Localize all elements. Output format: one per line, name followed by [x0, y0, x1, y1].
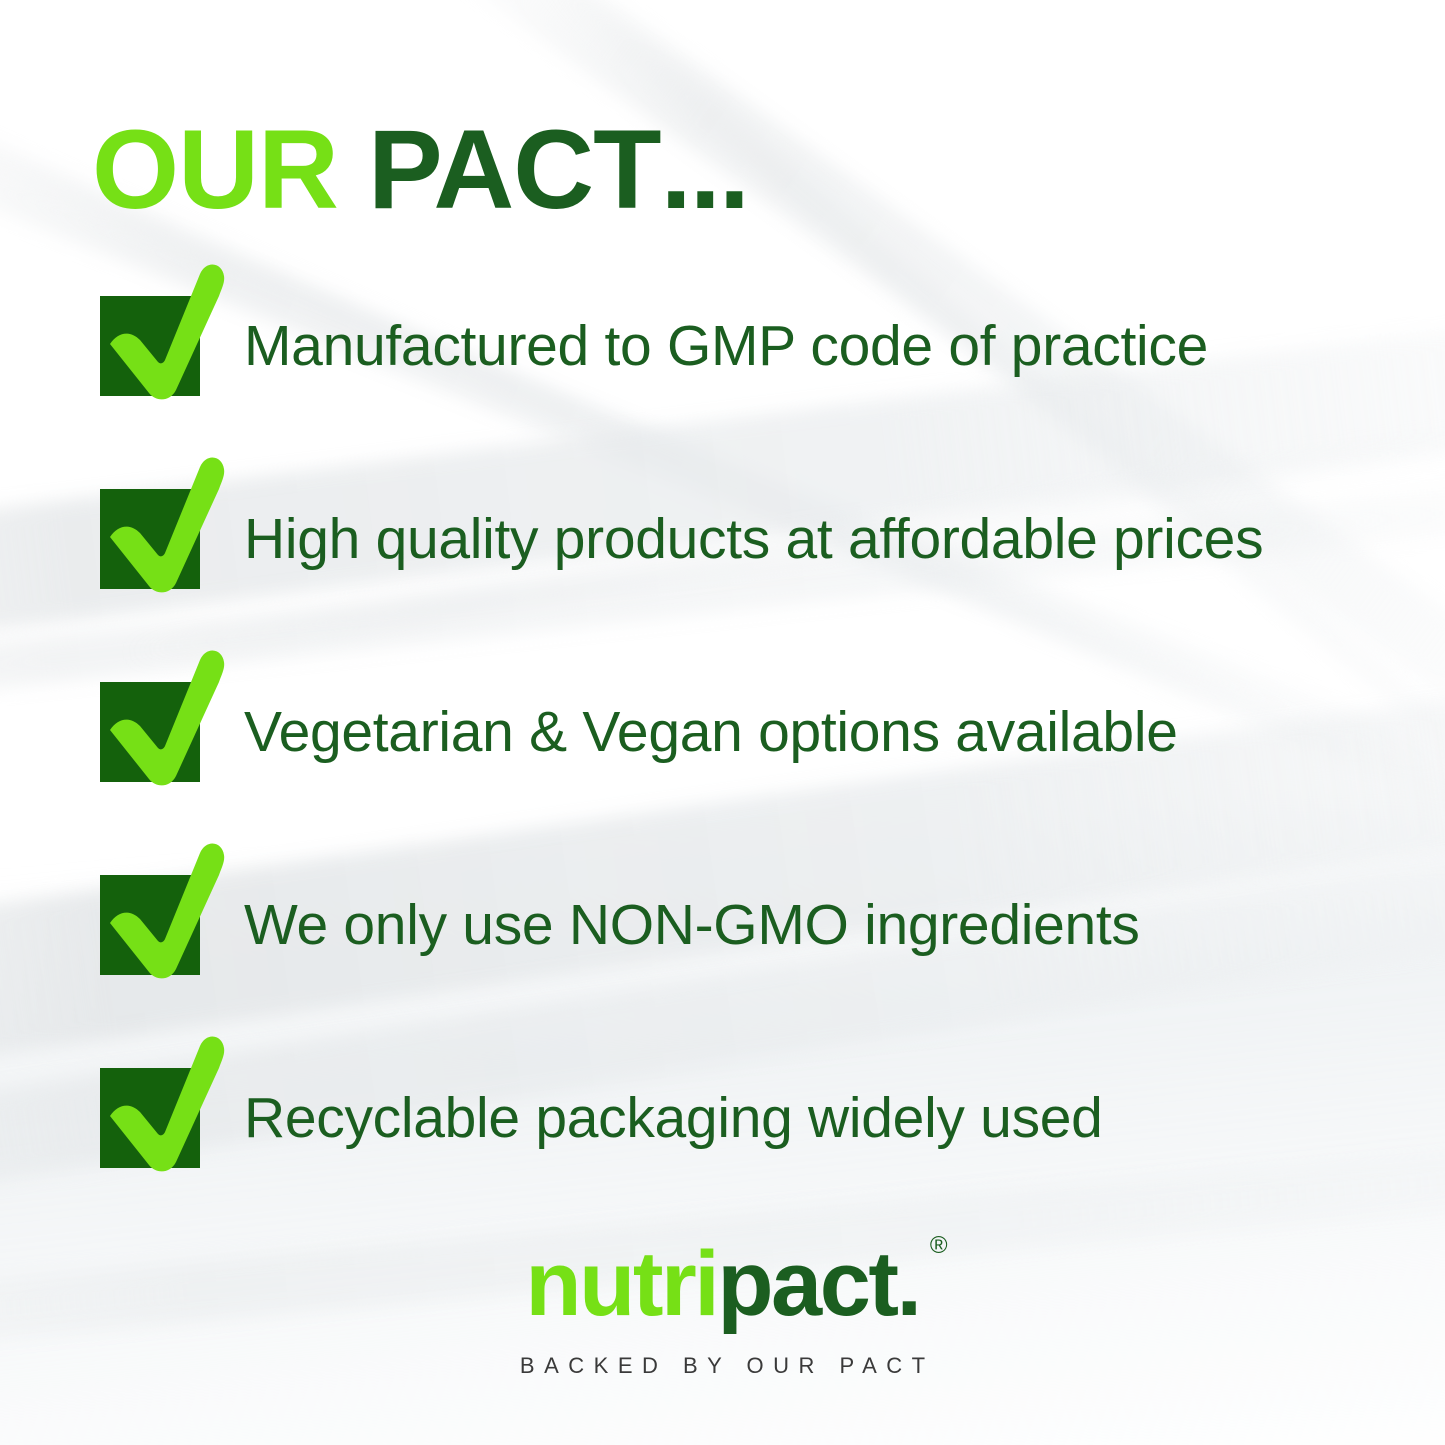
check-icon — [88, 831, 238, 981]
list-item: High quality products at affordable pric… — [100, 489, 1430, 589]
logo-nutri: nutri — [525, 1233, 717, 1335]
list-item-label: We only use NON-GMO ingredients — [244, 897, 1140, 954]
page-title: OUR PACT... — [92, 114, 748, 226]
list-item-label: Manufactured to GMP code of practice — [244, 318, 1208, 375]
checkbox[interactable] — [100, 489, 200, 589]
list-item-label: High quality products at affordable pric… — [244, 511, 1263, 568]
page-title-ellipsis: ... — [661, 107, 748, 232]
logo-wordmark: nutripact.® — [525, 1238, 919, 1330]
checkbox[interactable] — [100, 682, 200, 782]
brand-logo: nutripact.® BACKED BY OUR PACT — [0, 1238, 1445, 1379]
check-icon — [88, 1024, 238, 1174]
logo-tagline: BACKED BY OUR PACT — [0, 1353, 1445, 1379]
logo-pact: pact. — [717, 1233, 919, 1335]
list-item-label: Vegetarian & Vegan options available — [244, 704, 1178, 761]
list-item-label: Recyclable packaging widely used — [244, 1090, 1103, 1147]
registered-trademark-icon: ® — [930, 1234, 948, 1258]
checkbox[interactable] — [100, 875, 200, 975]
list-item: Vegetarian & Vegan options available — [100, 682, 1430, 782]
list-item: Recyclable packaging widely used — [100, 1068, 1430, 1168]
check-icon — [88, 638, 238, 788]
checkbox[interactable] — [100, 296, 200, 396]
pact-checklist: Manufactured to GMP code of practice Hig… — [100, 296, 1430, 1168]
page-title-highlight: OUR — [92, 107, 338, 232]
page-title-main: PACT — [368, 107, 661, 232]
list-item: We only use NON-GMO ingredients — [100, 875, 1430, 975]
checkbox[interactable] — [100, 1068, 200, 1168]
check-icon — [88, 445, 238, 595]
check-icon — [88, 252, 238, 402]
list-item: Manufactured to GMP code of practice — [100, 296, 1430, 396]
poster-canvas: OUR PACT... Manufactured to GMP code of … — [0, 0, 1445, 1445]
